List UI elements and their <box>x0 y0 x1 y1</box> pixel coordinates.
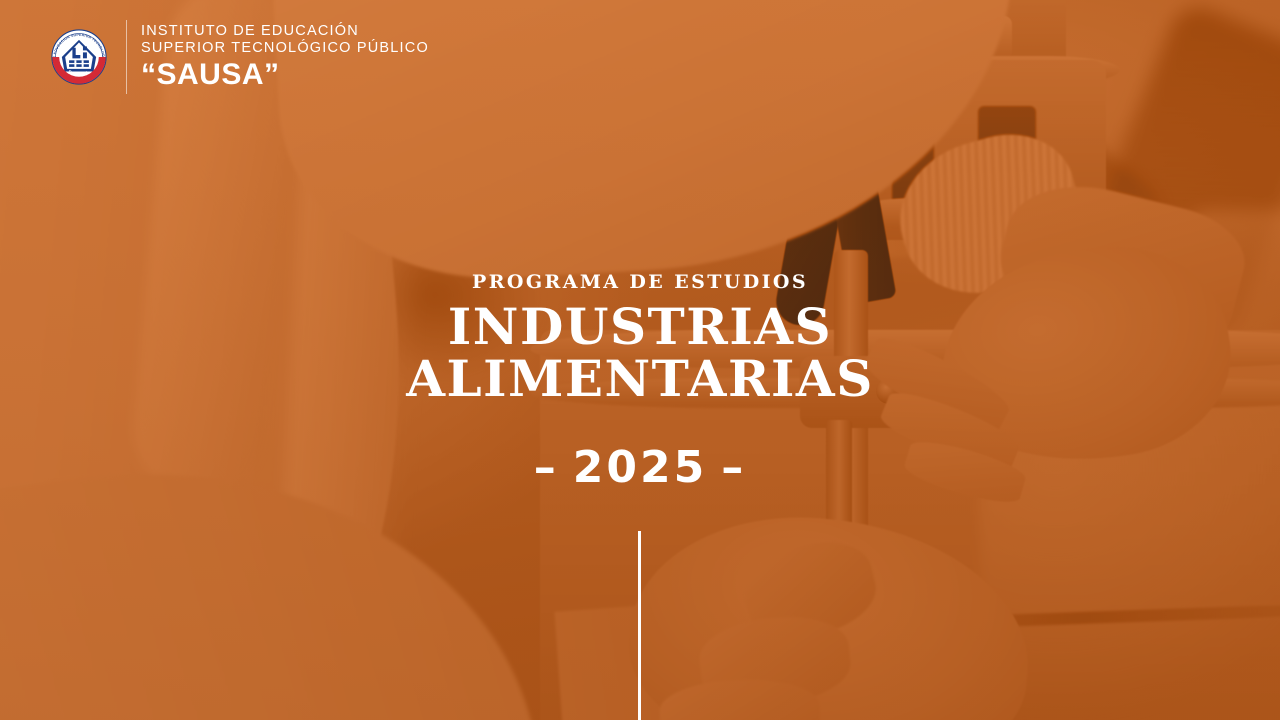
institute-line-1: INSTITUTO DE EDUCACIÓN <box>141 23 429 40</box>
year-dash-right: – <box>707 443 760 493</box>
title-block: PROGRAMA DE ESTUDIOS INDUSTRIAS ALIMENTA… <box>0 270 1280 405</box>
brand-text-group: INSTITUTO DE EDUCACIÓN SUPERIOR TECNOLÓG… <box>141 23 429 92</box>
vertical-accent-rule <box>638 531 641 720</box>
title-slide: INSTITUTO DE EDUCACION SUPERIOR TECNOLOG… <box>0 0 1280 720</box>
year-badge: –2025– <box>0 443 1280 493</box>
page-title: INDUSTRIAS ALIMENTARIAS <box>0 301 1280 405</box>
year-dash-left: – <box>520 443 573 493</box>
page-title-line-2: ALIMENTARIAS <box>0 353 1280 405</box>
program-kicker: PROGRAMA DE ESTUDIOS <box>0 270 1280 294</box>
brand-divider <box>126 20 127 94</box>
page-title-line-1: INDUSTRIAS <box>0 301 1280 353</box>
sausa-seal-svg: INSTITUTO DE EDUCACION SUPERIOR TECNOLOG… <box>46 24 112 90</box>
sausa-seal-icon: INSTITUTO DE EDUCACION SUPERIOR TECNOLOG… <box>46 24 112 90</box>
institute-line-2: SUPERIOR TECNOLÓGICO PÚBLICO <box>141 40 429 57</box>
brand-lockup: INSTITUTO DE EDUCACION SUPERIOR TECNOLOG… <box>46 20 429 94</box>
year-value: 2025 <box>573 442 707 493</box>
institute-acronym: “SAUSA” <box>141 58 429 92</box>
